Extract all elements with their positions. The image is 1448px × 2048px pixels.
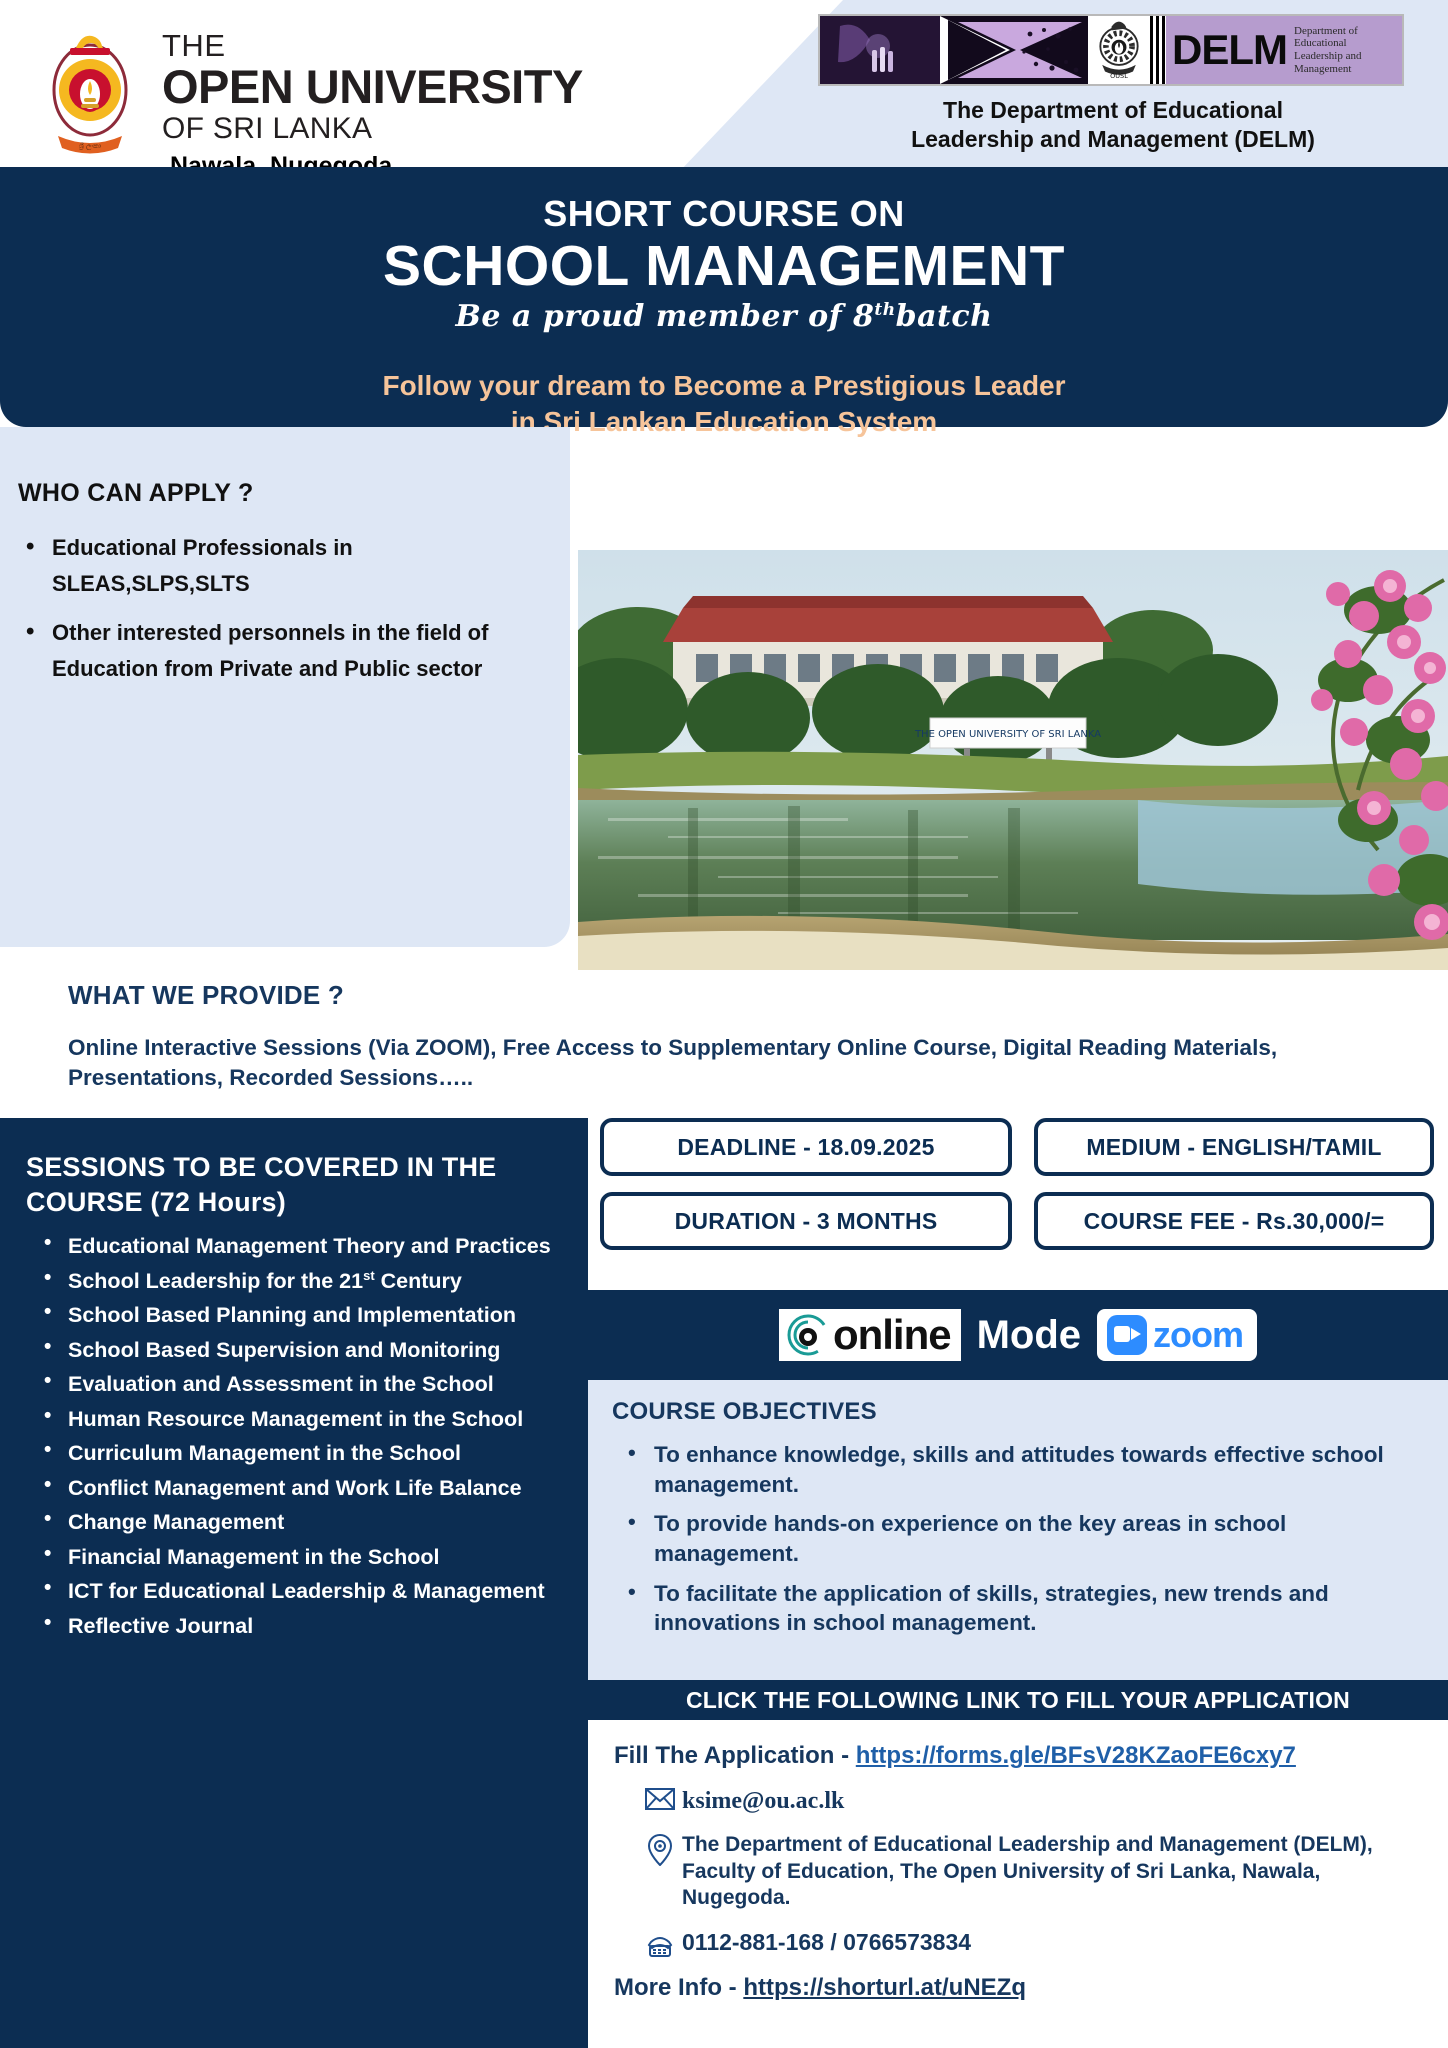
list-item: Conflict Management and Work Life Balanc… bbox=[26, 1475, 570, 1503]
delm-divider-bars-icon bbox=[1150, 16, 1166, 84]
banner-eyebrow: SHORT COURSE ON bbox=[0, 193, 1448, 235]
svg-text:THE OPEN UNIVERSITY OF SRI LAN: THE OPEN UNIVERSITY OF SRI LANKA bbox=[914, 729, 1101, 740]
online-logo-text: online bbox=[833, 1314, 951, 1356]
course-info-row: DURATION - 3 MONTHS COURSE FEE - Rs.30,0… bbox=[600, 1192, 1440, 1250]
banner-script-before: Be a proud member of 8 bbox=[456, 299, 875, 334]
what-we-provide-section: WHAT WE PROVIDE ? Online Interactive Ses… bbox=[68, 980, 1398, 1093]
university-name-line2: OPEN UNIVERSITY bbox=[162, 63, 583, 110]
duration-box: DURATION - 3 MONTHS bbox=[600, 1192, 1012, 1250]
campus-photo: THE OPEN UNIVERSITY OF SRI LANKA bbox=[578, 550, 1448, 970]
session-text-sup: st bbox=[363, 1268, 375, 1283]
delm-caption-line1: The Department of Educational bbox=[818, 96, 1408, 125]
session-text-post: Century bbox=[375, 1269, 462, 1293]
more-info-row: More Info - https://shorturl.at/uNEZq bbox=[614, 1974, 1434, 2002]
list-item: To facilitate the application of skills,… bbox=[612, 1579, 1428, 1638]
delm-wordmark-text: DELM bbox=[1172, 29, 1287, 71]
banner-script-after: batch bbox=[896, 299, 993, 334]
online-logo: online bbox=[779, 1309, 961, 1361]
contact-panel: Fill The Application - https://forms.gle… bbox=[588, 1720, 1448, 2048]
delm-banner-artwork-icon bbox=[820, 16, 1088, 84]
list-item: Human Resource Management in the School bbox=[26, 1406, 570, 1434]
delm-wordmark-subtitle: Department of Educational Leadership and… bbox=[1294, 25, 1402, 76]
online-swirl-icon bbox=[785, 1312, 831, 1358]
medium-box: MEDIUM - ENGLISH/TAMIL bbox=[1034, 1118, 1434, 1176]
delm-caption: The Department of Educational Leadership… bbox=[818, 96, 1408, 154]
list-item: To enhance knowledge, skills and attitud… bbox=[612, 1440, 1428, 1499]
click-link-bar: CLICK THE FOLLOWING LINK TO FILL YOUR AP… bbox=[588, 1680, 1448, 1720]
application-form-link[interactable]: https://forms.gle/BFsV28KZaoFE6cxy7 bbox=[856, 1742, 1296, 1769]
email-address[interactable]: ksime@ou.ac.lk bbox=[682, 1786, 844, 1816]
title-banner: SHORT COURSE ON SCHOOL MANAGEMENT Be a p… bbox=[0, 167, 1448, 427]
university-name-line1: THE bbox=[162, 30, 583, 61]
session-text-pre: School Leadership for the 21 bbox=[68, 1269, 363, 1293]
more-info-label: More Info - bbox=[614, 1974, 737, 2001]
banner-title: SCHOOL MANAGEMENT bbox=[0, 237, 1448, 297]
list-item: Evaluation and Assessment in the School bbox=[26, 1371, 570, 1399]
list-item: To provide hands-on experience on the ke… bbox=[612, 1509, 1428, 1568]
sessions-heading: SESSIONS TO BE COVERED IN THE COURSE (72… bbox=[26, 1150, 570, 1219]
svg-text:ශ්‍රී ලංකා: ශ්‍රී ලංකා bbox=[79, 142, 102, 151]
list-item: Other interested personnels in the field… bbox=[18, 615, 540, 686]
phone-number[interactable]: 0112-881-168 / 0766573834 bbox=[682, 1928, 971, 1957]
zoom-camera-icon bbox=[1107, 1315, 1147, 1355]
envelope-icon bbox=[638, 1786, 682, 1810]
address-row: The Department of Educational Leadership… bbox=[614, 1832, 1434, 1911]
list-item: Change Management bbox=[26, 1509, 570, 1537]
who-can-apply-panel: WHO CAN APPLY ? Educational Professional… bbox=[0, 427, 570, 947]
application-link-row: Fill The Application - https://forms.gle… bbox=[614, 1742, 1434, 1770]
banner-tagline-line1: Follow your dream to Become a Prestigiou… bbox=[0, 368, 1448, 404]
sessions-panel: SESSIONS TO BE COVERED IN THE COURSE (72… bbox=[0, 1118, 588, 2048]
list-item: Educational Management Theory and Practi… bbox=[26, 1233, 570, 1261]
delm-wordmark-subtitle-line1: Department of Educational bbox=[1294, 25, 1358, 50]
course-objectives-panel: COURSE OBJECTIVES To enhance knowledge, … bbox=[588, 1380, 1448, 1680]
list-item: Financial Management in the School bbox=[26, 1544, 570, 1572]
list-item: School Leadership for the 21st Century bbox=[26, 1268, 570, 1296]
list-item: School Based Supervision and Monitoring bbox=[26, 1337, 570, 1365]
course-objectives-heading: COURSE OBJECTIVES bbox=[612, 1398, 1428, 1426]
sessions-list: Educational Management Theory and Practi… bbox=[26, 1233, 570, 1640]
email-row: ksime@ou.ac.lk bbox=[614, 1786, 1434, 1816]
delm-wordmark-subtitle-line2: Leadership and Management bbox=[1294, 50, 1362, 75]
course-objectives-list: To enhance knowledge, skills and attitud… bbox=[612, 1440, 1428, 1638]
university-name-line3: OF SRI LANKA bbox=[162, 114, 583, 144]
mode-label: Mode bbox=[977, 1313, 1081, 1358]
who-can-apply-list: Educational Professionals in SLEAS,SLPS,… bbox=[18, 530, 540, 687]
list-item: Reflective Journal bbox=[26, 1613, 570, 1641]
more-info-link[interactable]: https://shorturl.at/uNEZq bbox=[743, 1974, 1026, 2001]
university-identity: ශ්‍රී ලංකා THE OPEN UNIVERSITY OF SRI LA… bbox=[40, 18, 583, 179]
delm-identity: OUSL DELM Department of Educational Lead… bbox=[818, 14, 1408, 154]
ousl-crest-icon: ශ්‍රී ලංකා bbox=[40, 18, 140, 166]
deadline-box: DEADLINE - 18.09.2025 bbox=[600, 1118, 1012, 1176]
phone-row: 0112-881-168 / 0766573834 bbox=[614, 1928, 1434, 1958]
delm-logo: OUSL DELM Department of Educational Lead… bbox=[818, 14, 1404, 86]
delm-caption-line2: Leadership and Management (DELM) bbox=[818, 125, 1408, 154]
delm-ousl-crest-icon: OUSL bbox=[1088, 16, 1150, 84]
online-mode-bar: online Mode zoom bbox=[588, 1290, 1448, 1380]
list-item: Educational Professionals in SLEAS,SLPS,… bbox=[18, 530, 540, 601]
address-text: The Department of Educational Leadership… bbox=[682, 1832, 1434, 1911]
zoom-logo-text: zoom bbox=[1153, 1314, 1243, 1356]
delm-crest-label: OUSL bbox=[1110, 72, 1128, 80]
application-link-label: Fill The Application - bbox=[614, 1742, 849, 1769]
course-info-boxes: DEADLINE - 18.09.2025 MEDIUM - ENGLISH/T… bbox=[600, 1118, 1440, 1266]
telephone-icon bbox=[638, 1928, 682, 1958]
zoom-logo: zoom bbox=[1097, 1309, 1257, 1361]
delm-wordmark: DELM Department of Educational Leadershi… bbox=[1166, 16, 1402, 84]
poster-page: ශ්‍රී ලංකා THE OPEN UNIVERSITY OF SRI LA… bbox=[0, 0, 1448, 2048]
list-item: Curriculum Management in the School bbox=[26, 1440, 570, 1468]
list-item: ICT for Educational Leadership & Managem… bbox=[26, 1578, 570, 1606]
what-we-provide-text: Online Interactive Sessions (Via ZOOM), … bbox=[68, 1033, 1398, 1093]
banner-script-line: Be a proud member of 8thbatch bbox=[0, 299, 1448, 334]
banner-script-sup: th bbox=[874, 300, 895, 320]
course-fee-box: COURSE FEE - Rs.30,000/= bbox=[1034, 1192, 1434, 1250]
location-pin-icon bbox=[638, 1832, 682, 1866]
university-name: THE OPEN UNIVERSITY OF SRI LANKA Nawala,… bbox=[162, 18, 583, 179]
list-item: School Based Planning and Implementation bbox=[26, 1302, 570, 1330]
what-we-provide-heading: WHAT WE PROVIDE ? bbox=[68, 980, 1398, 1011]
who-can-apply-heading: WHO CAN APPLY ? bbox=[18, 479, 540, 508]
course-info-row: DEADLINE - 18.09.2025 MEDIUM - ENGLISH/T… bbox=[600, 1118, 1440, 1176]
